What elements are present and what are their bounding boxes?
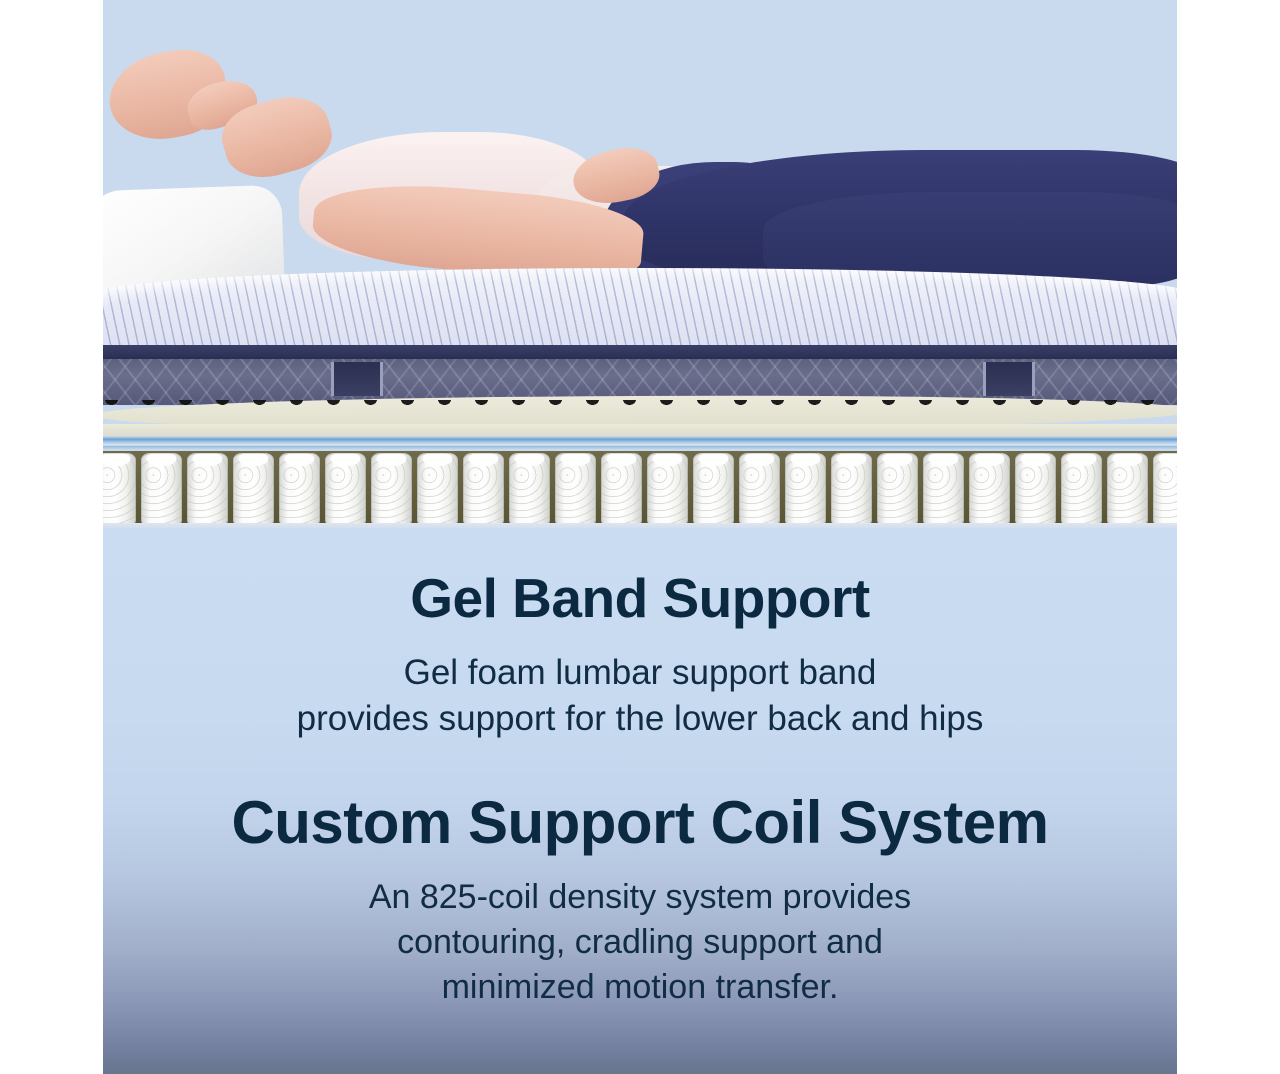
custom-support-coil-system-heading: Custom Support Coil System [103,743,1177,854]
mattress-hero-photo [103,0,1177,529]
feature-text-block: Gel Band Support Gel foam lumbar support… [103,529,1177,1074]
mattress-handle [983,362,1035,396]
gel-band-support-heading: Gel Band Support [103,529,1177,628]
coil-line-2: contouring, cradling support and [397,923,883,961]
coil-line-3: minimized motion transfer. [442,968,839,1006]
gel-band-accent-line-secondary [103,446,1177,450]
gel-band-line-2: provides support for the lower back and … [297,699,984,738]
custom-support-coil-description: An 825-coil density system provides cont… [103,854,1177,1011]
foam-perforations [103,400,1177,416]
pocket-coil-layer [103,451,1177,529]
mattress-handle [331,362,383,396]
gel-band-support-description: Gel foam lumbar support band provides su… [103,628,1177,743]
gel-band-accent-line [103,436,1177,445]
mattress-quilted-top [103,268,1177,352]
coil-line-1: An 825-coil density system provides [369,878,911,916]
gel-band-line-1: Gel foam lumbar support band [404,653,877,692]
product-feature-panel: Gel Band Support Gel foam lumbar support… [103,0,1177,1074]
